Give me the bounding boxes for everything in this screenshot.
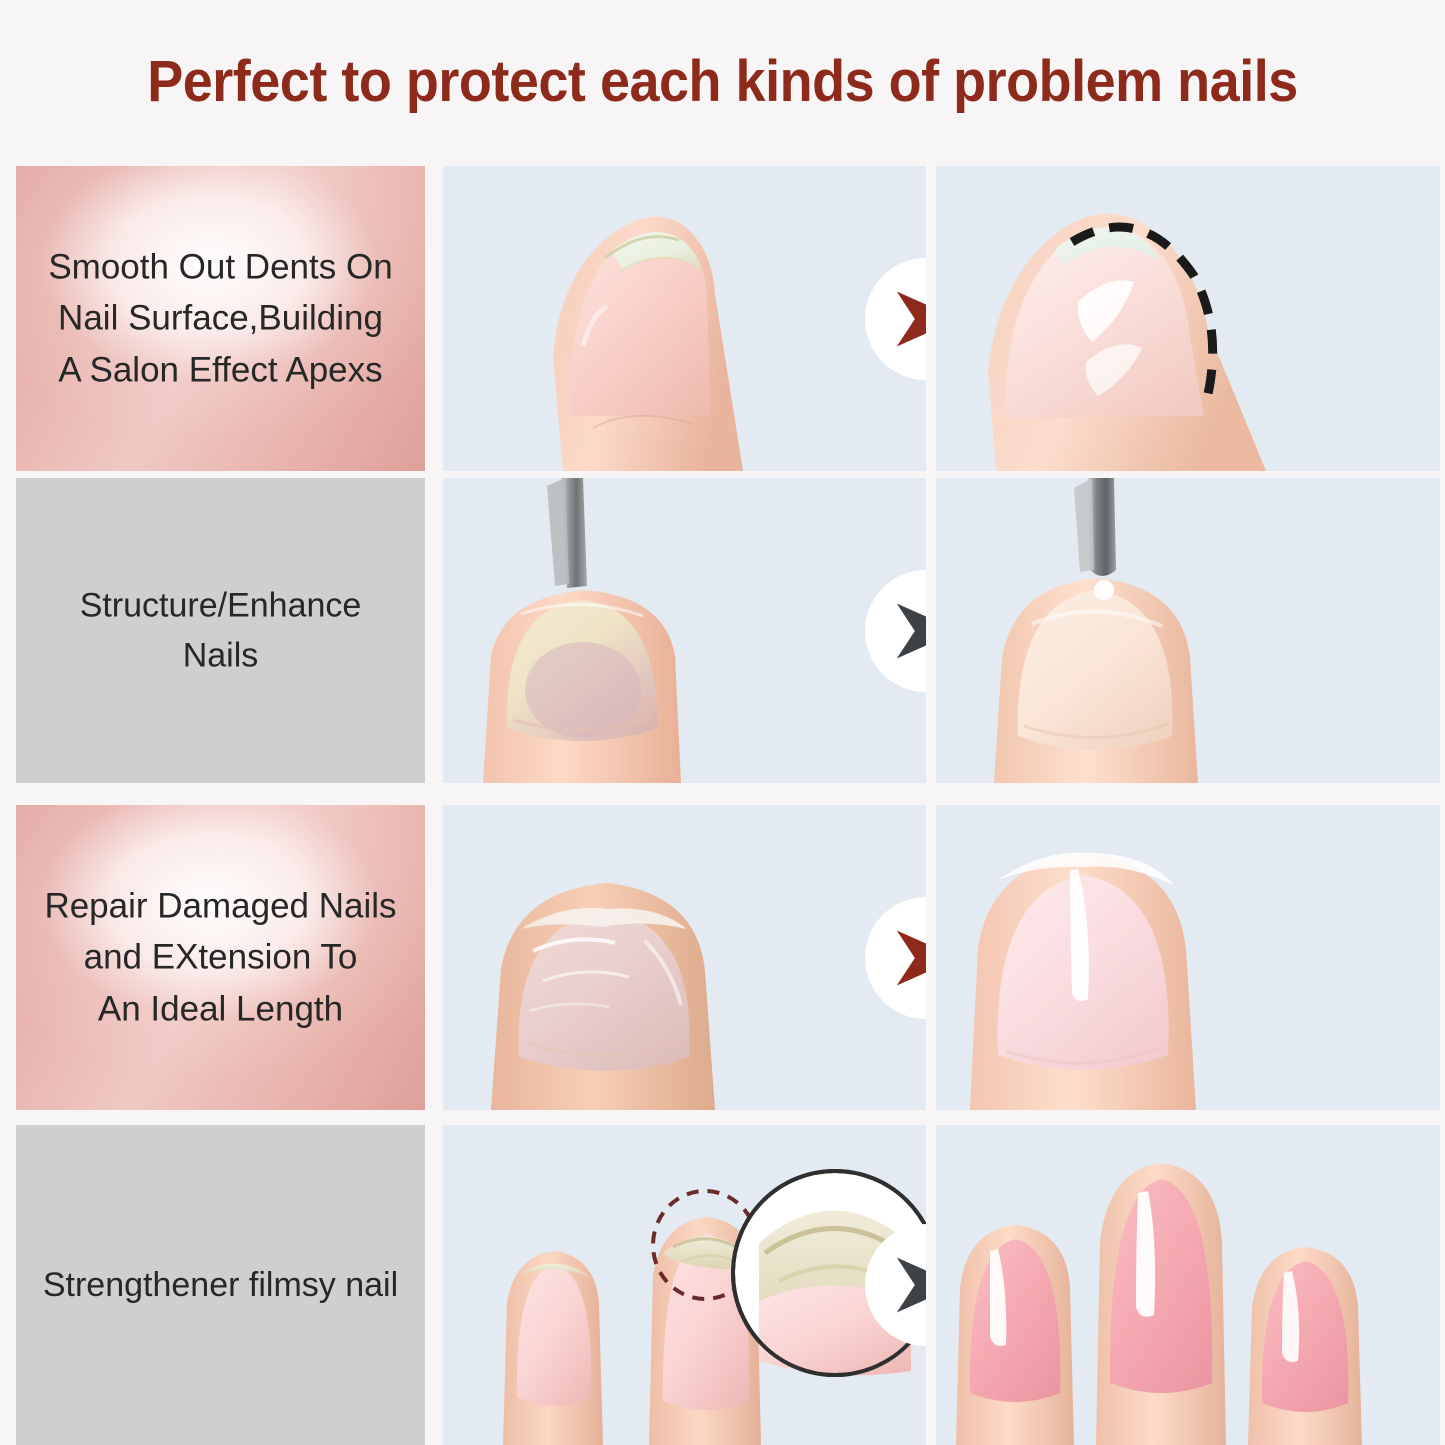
row-4-label-panel: Strengthener filmsy nail [16, 1125, 425, 1445]
row-1-label-panel: Smooth Out Dents On Nail Surface,Buildin… [16, 166, 425, 471]
strong-pink-nails-illustration [936, 1125, 1440, 1445]
comparison-grid: Smooth Out Dents On Nail Surface,Buildin… [16, 166, 1440, 1445]
row-2-label-line-2: Nails [183, 637, 259, 675]
row-3-label: Repair Damaged Nails and EXtension To An… [16, 880, 425, 1035]
repaired-extended-nail-illustration [936, 805, 1440, 1110]
row-2-label-line-1: Structure/Enhance [80, 586, 362, 624]
table-row: Smooth Out Dents On Nail Surface,Buildin… [16, 166, 1440, 471]
row-3-before-image [443, 805, 926, 1110]
flimsy-split-nail-illustration [443, 1125, 926, 1445]
arrow-right-dart-icon [883, 276, 926, 362]
row-1-before-image [443, 166, 926, 471]
row-1-label: Smooth Out Dents On Nail Surface,Buildin… [16, 241, 425, 396]
row-3-label-panel: Repair Damaged Nails and EXtension To An… [16, 805, 425, 1110]
page-title: Perfect to protect each kinds of problem… [51, 48, 1395, 115]
damaged-thin-nail-illustration [443, 166, 926, 471]
row-1-after-image [936, 166, 1440, 471]
table-row: Strengthener filmsy nail [16, 1125, 1440, 1445]
table-row: Repair Damaged Nails and EXtension To An… [16, 805, 1440, 1110]
row-3-label-line-2: and EXtension To [84, 938, 358, 977]
apex-nail-illustration [936, 166, 1440, 471]
row-3-label-line-1: Repair Damaged Nails [44, 886, 396, 925]
row-4-after-image [936, 1125, 1440, 1445]
row-3-label-line-3: An Ideal Length [98, 989, 343, 1028]
row-3-after-image [936, 805, 1440, 1110]
row-4-label-line-1: Strengthener filmsy nail [43, 1266, 398, 1304]
structured-nail-with-tool-illustration [936, 478, 1440, 783]
row-2-label: Structure/Enhance Nails [16, 580, 425, 681]
row-2-before-image [443, 478, 926, 783]
arrow-right-dart-icon [883, 915, 926, 1001]
table-row: Structure/Enhance Nails [16, 478, 1440, 783]
row-2-label-panel: Structure/Enhance Nails [16, 478, 425, 783]
row-4-before-image [443, 1125, 926, 1445]
arrow-right-dart-icon [883, 588, 926, 674]
row-1-label-line-3: A Salon Effect Apexs [58, 350, 382, 389]
row-4-label: Strengthener filmsy nail [16, 1260, 425, 1310]
flat-nail-with-tool-illustration [443, 478, 926, 783]
row-1-label-line-1: Smooth Out Dents On [48, 247, 392, 286]
row-1-label-line-2: Nail Surface,Building [58, 299, 383, 338]
row-2-after-image [936, 478, 1440, 783]
arrow-right-dart-icon [883, 1242, 926, 1328]
peeling-damaged-nail-illustration [443, 805, 926, 1110]
